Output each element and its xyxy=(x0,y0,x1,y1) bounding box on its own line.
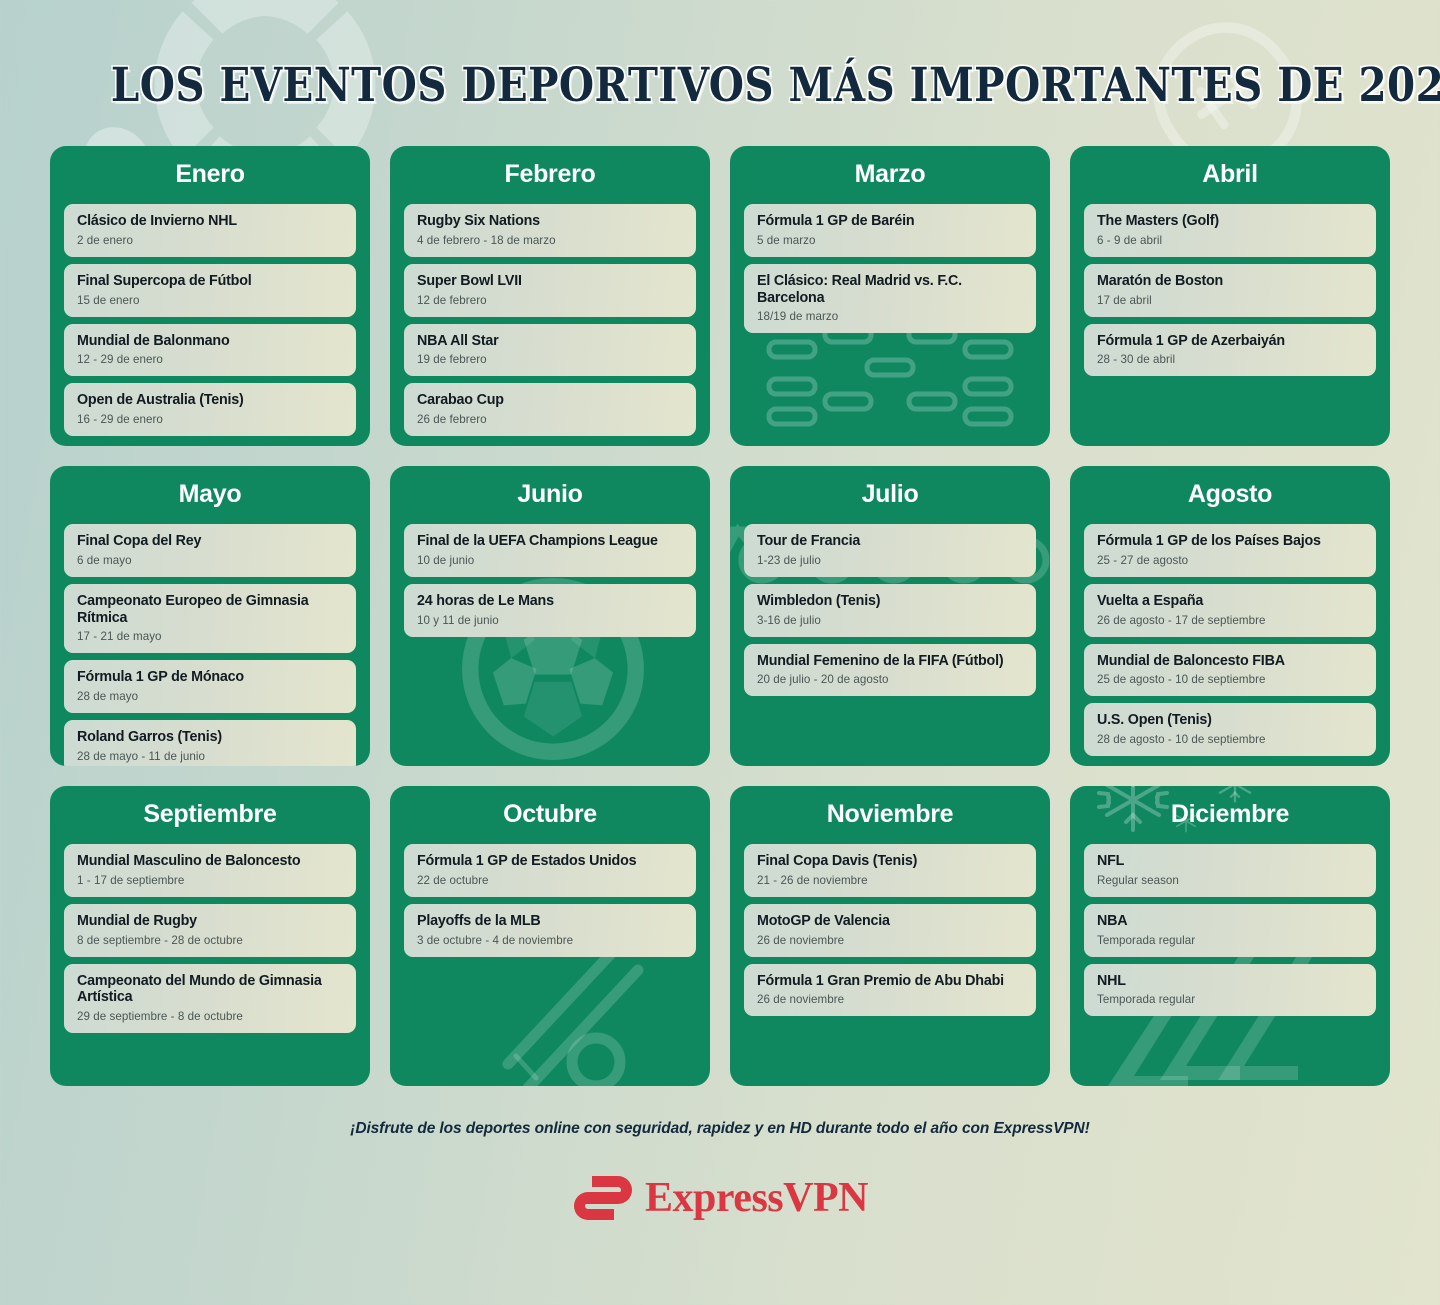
events-list: The Masters (Golf)6 - 9 de abrilMaratón … xyxy=(1084,204,1376,376)
event-date: 26 de agosto - 17 de septiembre xyxy=(1097,614,1364,628)
event-title: Maratón de Boston xyxy=(1097,273,1364,290)
month-card-diciembre: DiciembreNFLRegular seasonNBATemporada r… xyxy=(1070,786,1390,1086)
event-date: 6 - 9 de abril xyxy=(1097,234,1364,248)
event-item[interactable]: Fórmula 1 GP de los Países Bajos25 - 27 … xyxy=(1084,524,1376,577)
event-item[interactable]: Mundial de Balonmano12 - 29 de enero xyxy=(64,324,356,377)
event-title: Roland Garros (Tenis) xyxy=(77,729,344,746)
month-name: Septiembre xyxy=(64,802,356,827)
month-name: Enero xyxy=(64,162,356,187)
event-date: 1-23 de julio xyxy=(757,554,1024,568)
page-title: LOS EVENTOS DEPORTIVOS MÁS IMPORTANTES D… xyxy=(111,62,1440,109)
events-list: Final Copa Davis (Tenis)21 - 26 de novie… xyxy=(744,844,1036,1016)
event-date: 17 de abril xyxy=(1097,294,1364,308)
event-title: Final Supercopa de Fútbol xyxy=(77,273,344,290)
event-title: El Clásico: Real Madrid vs. F.C. Barcelo… xyxy=(757,273,1024,307)
event-date: 26 de noviembre xyxy=(757,993,1024,1007)
event-date: 18/19 de marzo xyxy=(757,310,1024,324)
event-date: 20 de julio - 20 de agosto xyxy=(757,673,1024,687)
event-item[interactable]: Roland Garros (Tenis)28 de mayo - 11 de … xyxy=(64,720,356,766)
event-item[interactable]: MotoGP de Valencia26 de noviembre xyxy=(744,904,1036,957)
event-item[interactable]: Rugby Six Nations4 de febrero - 18 de ma… xyxy=(404,204,696,257)
event-date: 12 - 29 de enero xyxy=(77,353,344,367)
event-title: Rugby Six Nations xyxy=(417,213,684,230)
event-title: Mundial de Baloncesto FIBA xyxy=(1097,653,1364,670)
event-item[interactable]: 24 horas de Le Mans10 y 11 de junio xyxy=(404,584,696,637)
month-card-julio: JulioTour de Francia1-23 de julioWimbled… xyxy=(730,466,1050,766)
event-item[interactable]: Final Copa Davis (Tenis)21 - 26 de novie… xyxy=(744,844,1036,897)
event-item[interactable]: Fórmula 1 Gran Premio de Abu Dhabi26 de … xyxy=(744,964,1036,1017)
month-name: Abril xyxy=(1084,162,1376,187)
event-item[interactable]: Carabao Cup26 de febrero xyxy=(404,383,696,436)
event-title: NBA xyxy=(1097,913,1364,930)
month-card-febrero: FebreroRugby Six Nations4 de febrero - 1… xyxy=(390,146,710,446)
events-list: Final Copa del Rey6 de mayoCampeonato Eu… xyxy=(64,524,356,766)
events-list: Fórmula 1 GP de Estados Unidos22 de octu… xyxy=(404,844,696,957)
expressvpn-wordmark: ExpressVPN xyxy=(645,1177,868,1219)
month-name: Julio xyxy=(744,482,1036,507)
expressvpn-logo[interactable]: ExpressVPN xyxy=(0,1174,1440,1222)
event-title: Wimbledon (Tenis) xyxy=(757,593,1024,610)
event-title: Fórmula 1 GP de Estados Unidos xyxy=(417,853,684,870)
event-item[interactable]: Mundial de Rugby8 de septiembre - 28 de … xyxy=(64,904,356,957)
event-title: Fórmula 1 GP de Azerbaiyán xyxy=(1097,333,1364,350)
event-date: 25 - 27 de agosto xyxy=(1097,554,1364,568)
month-name: Diciembre xyxy=(1084,802,1376,827)
event-title: The Masters (Golf) xyxy=(1097,213,1364,230)
event-date: 3-16 de julio xyxy=(757,614,1024,628)
event-date: 15 de enero xyxy=(77,294,344,308)
event-date: 12 de febrero xyxy=(417,294,684,308)
event-title: Final Copa Davis (Tenis) xyxy=(757,853,1024,870)
event-item[interactable]: Final Copa del Rey6 de mayo xyxy=(64,524,356,577)
event-item[interactable]: Fórmula 1 GP de Estados Unidos22 de octu… xyxy=(404,844,696,897)
month-card-noviembre: NoviembreFinal Copa Davis (Tenis)21 - 26… xyxy=(730,786,1050,1086)
month-name: Agosto xyxy=(1084,482,1376,507)
event-date: 5 de marzo xyxy=(757,234,1024,248)
event-date: 19 de febrero xyxy=(417,353,684,367)
event-item[interactable]: U.S. Open (Tenis)28 de agosto - 10 de se… xyxy=(1084,703,1376,756)
event-item[interactable]: Mundial Masculino de Baloncesto1 - 17 de… xyxy=(64,844,356,897)
calendar-grid: EneroClásico de Invierno NHL2 de eneroFi… xyxy=(0,146,1440,1086)
events-list: NFLRegular seasonNBATemporada regularNHL… xyxy=(1084,844,1376,1016)
event-title: Fórmula 1 GP de Baréin xyxy=(757,213,1024,230)
month-name: Junio xyxy=(404,482,696,507)
event-item[interactable]: Final de la UEFA Champions League10 de j… xyxy=(404,524,696,577)
event-title: Super Bowl LVII xyxy=(417,273,684,290)
page-title-container: LOS EVENTOS DEPORTIVOS MÁS IMPORTANTES D… xyxy=(0,0,1440,109)
event-date: 26 de noviembre xyxy=(757,934,1024,948)
event-title: Clásico de Invierno NHL xyxy=(77,213,344,230)
event-title: Open de Australia (Tenis) xyxy=(77,392,344,409)
event-date: 28 de mayo - 11 de junio xyxy=(77,750,344,764)
events-list: Final de la UEFA Champions League10 de j… xyxy=(404,524,696,637)
event-item[interactable]: Clásico de Invierno NHL2 de enero xyxy=(64,204,356,257)
month-name: Noviembre xyxy=(744,802,1036,827)
event-title: Mundial de Rugby xyxy=(77,913,344,930)
event-item[interactable]: Tour de Francia1-23 de julio xyxy=(744,524,1036,577)
event-title: Mundial de Balonmano xyxy=(77,333,344,350)
event-item[interactable]: El Clásico: Real Madrid vs. F.C. Barcelo… xyxy=(744,264,1036,334)
event-item[interactable]: NHLTemporada regular xyxy=(1084,964,1376,1017)
event-date: 3 de octubre - 4 de noviembre xyxy=(417,934,684,948)
event-date: Temporada regular xyxy=(1097,993,1364,1007)
event-title: Campeonato del Mundo de Gimnasia Artísti… xyxy=(77,973,344,1007)
event-date: 2 de enero xyxy=(77,234,344,248)
event-title: Final de la UEFA Champions League xyxy=(417,533,684,550)
event-item[interactable]: Maratón de Boston17 de abril xyxy=(1084,264,1376,317)
event-date: Regular season xyxy=(1097,874,1364,888)
expressvpn-mark-icon xyxy=(572,1174,634,1222)
event-date: 28 - 30 de abril xyxy=(1097,353,1364,367)
event-item[interactable]: NBATemporada regular xyxy=(1084,904,1376,957)
event-item[interactable]: Fórmula 1 GP de Mónaco28 de mayo xyxy=(64,660,356,713)
event-item[interactable]: Super Bowl LVII12 de febrero xyxy=(404,264,696,317)
month-card-mayo: MayoFinal Copa del Rey6 de mayoCampeonat… xyxy=(50,466,370,766)
month-name: Febrero xyxy=(404,162,696,187)
event-date: 10 de junio xyxy=(417,554,684,568)
event-title: Mundial Femenino de la FIFA (Fútbol) xyxy=(757,653,1024,670)
event-item[interactable]: Mundial de Baloncesto FIBA25 de agosto -… xyxy=(1084,644,1376,697)
month-card-enero: EneroClásico de Invierno NHL2 de eneroFi… xyxy=(50,146,370,446)
event-date: 8 de septiembre - 28 de octubre xyxy=(77,934,344,948)
events-list: Fórmula 1 GP de Baréin5 de marzoEl Clási… xyxy=(744,204,1036,333)
event-date: 26 de febrero xyxy=(417,413,684,427)
month-name: Marzo xyxy=(744,162,1036,187)
event-item[interactable]: Fórmula 1 GP de Baréin5 de marzo xyxy=(744,204,1036,257)
month-card-agosto: AgostoFórmula 1 GP de los Países Bajos25… xyxy=(1070,466,1390,766)
event-date: 1 - 17 de septiembre xyxy=(77,874,344,888)
events-list: Clásico de Invierno NHL2 de eneroFinal S… xyxy=(64,204,356,436)
event-date: Temporada regular xyxy=(1097,934,1364,948)
event-title: NHL xyxy=(1097,973,1364,990)
baseball-bats-icon xyxy=(450,936,680,1086)
event-title: Fórmula 1 GP de los Países Bajos xyxy=(1097,533,1364,550)
event-item[interactable]: Wimbledon (Tenis)3-16 de julio xyxy=(744,584,1036,637)
event-title: Campeonato Europeo de Gimnasia Rítmica xyxy=(77,593,344,627)
event-title: Tour de Francia xyxy=(757,533,1024,550)
event-date: 28 de agosto - 10 de septiembre xyxy=(1097,733,1364,747)
month-name: Octubre xyxy=(404,802,696,827)
events-list: Tour de Francia1-23 de julioWimbledon (T… xyxy=(744,524,1036,696)
event-title: U.S. Open (Tenis) xyxy=(1097,712,1364,729)
month-card-junio: JunioFinal de la UEFA Champions League10… xyxy=(390,466,710,766)
event-item[interactable]: Campeonato del Mundo de Gimnasia Artísti… xyxy=(64,964,356,1034)
event-date: 16 - 29 de enero xyxy=(77,413,344,427)
event-item[interactable]: Campeonato Europeo de Gimnasia Rítmica17… xyxy=(64,584,356,654)
event-title: MotoGP de Valencia xyxy=(757,913,1024,930)
event-item[interactable]: Open de Australia (Tenis)16 - 29 de ener… xyxy=(64,383,356,436)
event-item[interactable]: Vuelta a España26 de agosto - 17 de sept… xyxy=(1084,584,1376,637)
footer-tagline: ¡Disfrute de los deportes online con seg… xyxy=(0,1120,1440,1138)
event-title: NFL xyxy=(1097,853,1364,870)
event-title: Mundial Masculino de Baloncesto xyxy=(77,853,344,870)
event-title: Playoffs de la MLB xyxy=(417,913,684,930)
event-title: Fórmula 1 Gran Premio de Abu Dhabi xyxy=(757,973,1024,990)
event-date: 10 y 11 de junio xyxy=(417,614,684,628)
event-title: Fórmula 1 GP de Mónaco xyxy=(77,669,344,686)
event-item[interactable]: The Masters (Golf)6 - 9 de abril xyxy=(1084,204,1376,257)
month-card-marzo: MarzoFórmula 1 GP de Baréin5 de marzoEl … xyxy=(730,146,1050,446)
month-name: Mayo xyxy=(64,482,356,507)
event-title: Vuelta a España xyxy=(1097,593,1364,610)
event-item[interactable]: NBA All Star19 de febrero xyxy=(404,324,696,377)
event-item[interactable]: Mundial Femenino de la FIFA (Fútbol)20 d… xyxy=(744,644,1036,697)
events-list: Fórmula 1 GP de los Países Bajos25 - 27 … xyxy=(1084,524,1376,756)
events-list: Rugby Six Nations4 de febrero - 18 de ma… xyxy=(404,204,696,436)
event-item[interactable]: NFLRegular season xyxy=(1084,844,1376,897)
month-card-septiembre: SeptiembreMundial Masculino de Baloncest… xyxy=(50,786,370,1086)
footer: ¡Disfrute de los deportes online con seg… xyxy=(0,1120,1440,1222)
event-title: Carabao Cup xyxy=(417,392,684,409)
event-date: 6 de mayo xyxy=(77,554,344,568)
event-date: 22 de octubre xyxy=(417,874,684,888)
event-item[interactable]: Final Supercopa de Fútbol15 de enero xyxy=(64,264,356,317)
event-date: 21 - 26 de noviembre xyxy=(757,874,1024,888)
event-title: 24 horas de Le Mans xyxy=(417,593,684,610)
event-date: 17 - 21 de mayo xyxy=(77,630,344,644)
event-date: 4 de febrero - 18 de marzo xyxy=(417,234,684,248)
event-item[interactable]: Playoffs de la MLB3 de octubre - 4 de no… xyxy=(404,904,696,957)
event-title: NBA All Star xyxy=(417,333,684,350)
month-card-octubre: OctubreFórmula 1 GP de Estados Unidos22 … xyxy=(390,786,710,1086)
event-title: Final Copa del Rey xyxy=(77,533,344,550)
event-item[interactable]: Fórmula 1 GP de Azerbaiyán28 - 30 de abr… xyxy=(1084,324,1376,377)
event-date: 25 de agosto - 10 de septiembre xyxy=(1097,673,1364,687)
month-card-abril: AbrilThe Masters (Golf)6 - 9 de abrilMar… xyxy=(1070,146,1390,446)
event-date: 28 de mayo xyxy=(77,690,344,704)
events-list: Mundial Masculino de Baloncesto1 - 17 de… xyxy=(64,844,356,1033)
event-date: 29 de septiembre - 8 de octubre xyxy=(77,1010,344,1024)
